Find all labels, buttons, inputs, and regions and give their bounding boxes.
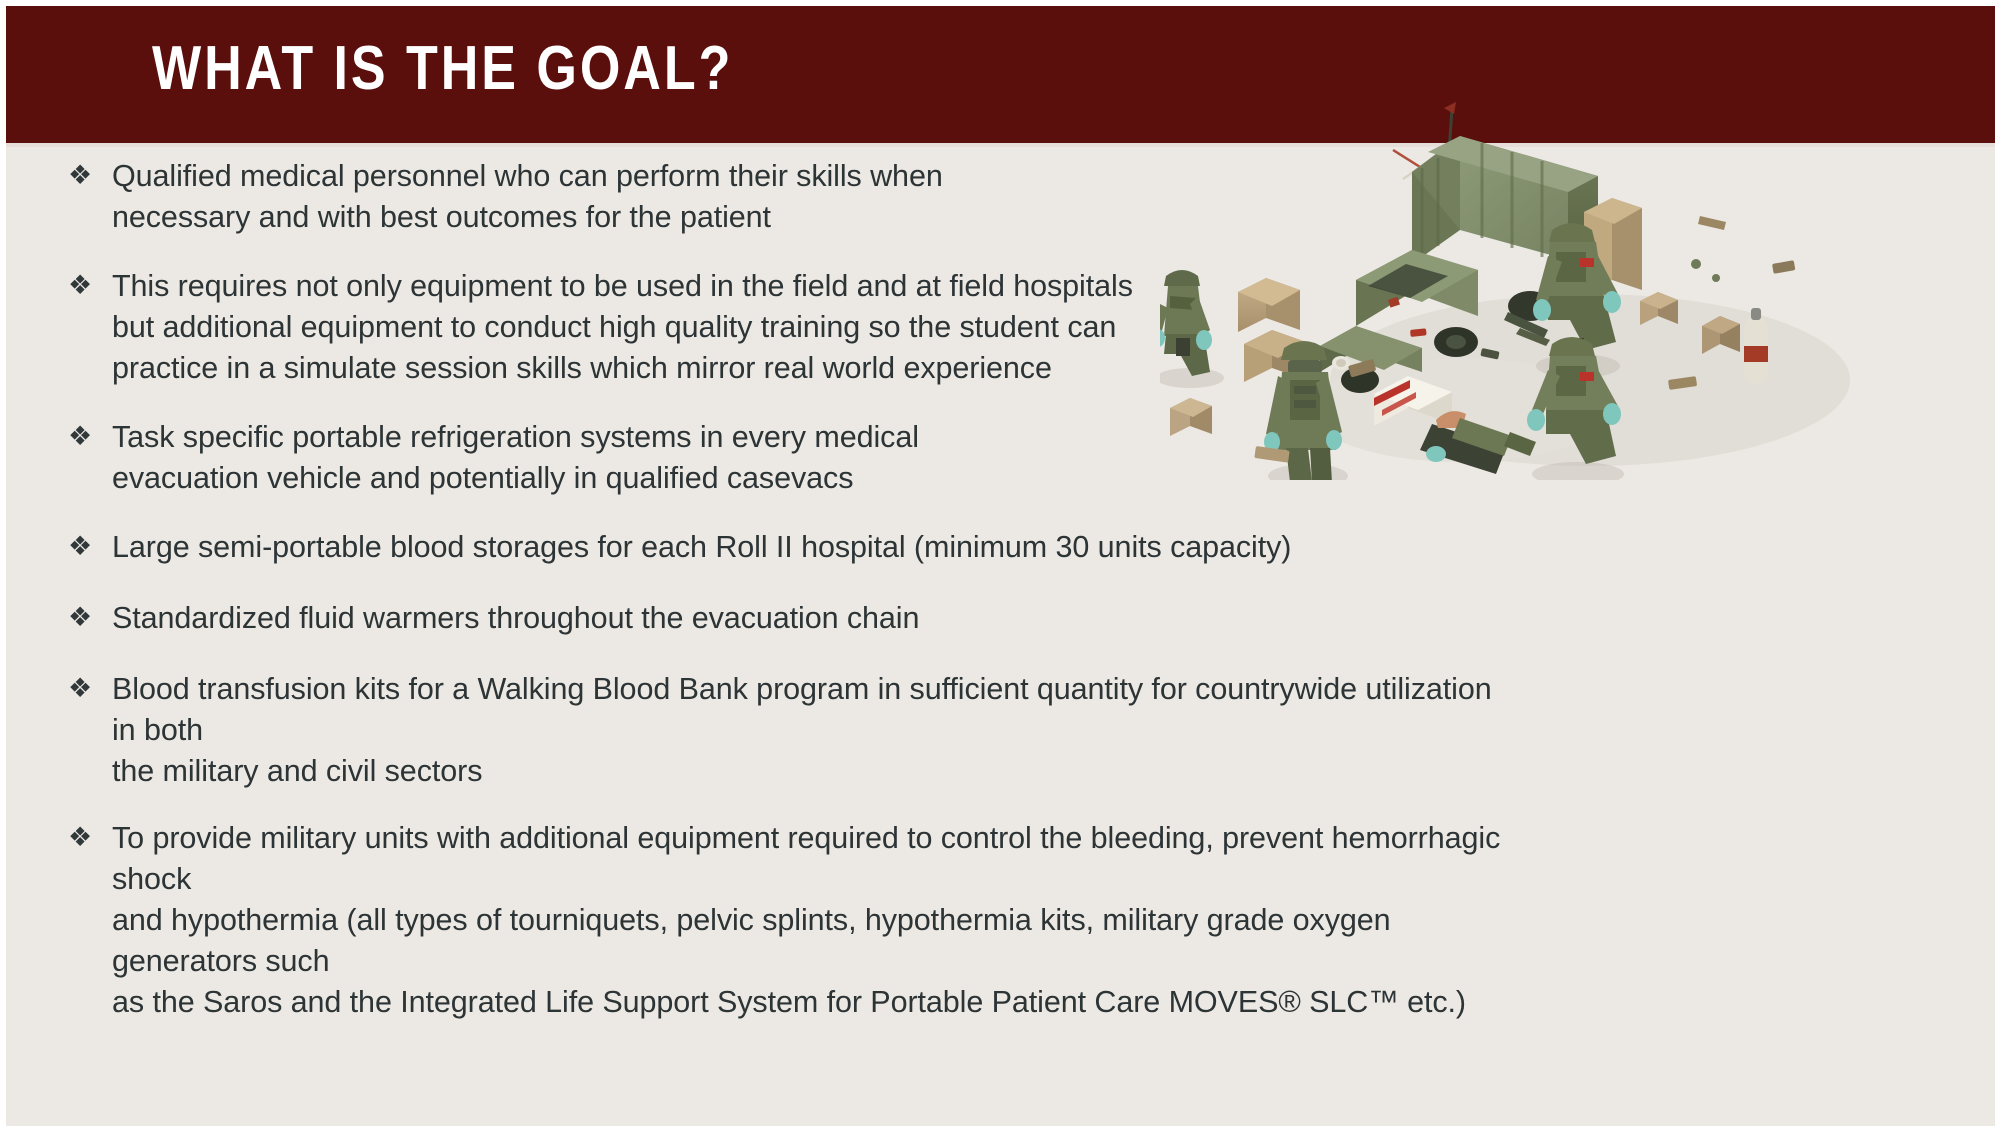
list-item-text: To provide military units with additiona…	[112, 817, 1511, 1022]
bullet-list: ❖ Qualified medical personnel who can pe…	[62, 155, 1532, 1042]
list-item-text: Standardized fluid warmers throughout th…	[112, 597, 1511, 638]
list-item-text: Blood transfusion kits for a Walking Blo…	[112, 668, 1511, 791]
list-item-text: This requires not only equipment to be u…	[112, 265, 1511, 388]
list-item: ❖ Task specific portable refrigeration s…	[62, 416, 1532, 498]
slide-edge-right	[1995, 0, 2001, 1126]
list-item-text: Qualified medical personnel who can perf…	[112, 155, 1511, 237]
list-item: ❖ To provide military units with additio…	[62, 817, 1532, 1022]
diamond-bullet-icon: ❖	[62, 155, 112, 196]
diamond-bullet-icon: ❖	[62, 265, 112, 306]
soldier-medic-bottom-right	[1527, 337, 1624, 480]
diamond-bullet-icon: ❖	[62, 597, 112, 638]
list-item: ❖ Standardized fluid warmers throughout …	[62, 597, 1532, 638]
page-title: WHAT IS THE GOAL?	[152, 38, 733, 100]
header-underline	[0, 143, 2001, 147]
list-item: ❖ Qualified medical personnel who can pe…	[62, 155, 1532, 237]
diamond-bullet-icon: ❖	[62, 817, 112, 858]
list-item: ❖ This requires not only equipment to be…	[62, 265, 1532, 388]
list-item: ❖ Blood transfusion kits for a Walking B…	[62, 668, 1532, 791]
diamond-bullet-icon: ❖	[62, 526, 112, 567]
slide-edge-left	[0, 0, 6, 1126]
diamond-bullet-icon: ❖	[62, 668, 112, 709]
list-item: ❖ Large semi-portable blood storages for…	[62, 526, 1532, 567]
list-item-text: Task specific portable refrigeration sys…	[112, 416, 1511, 498]
slide: WHAT IS THE GOAL?	[0, 0, 2001, 1126]
soldier-medic-right-kneeling	[1533, 223, 1621, 378]
list-item-text: Large semi-portable blood storages for e…	[112, 526, 1511, 567]
diamond-bullet-icon: ❖	[62, 416, 112, 457]
slide-edge-top	[0, 0, 2001, 6]
